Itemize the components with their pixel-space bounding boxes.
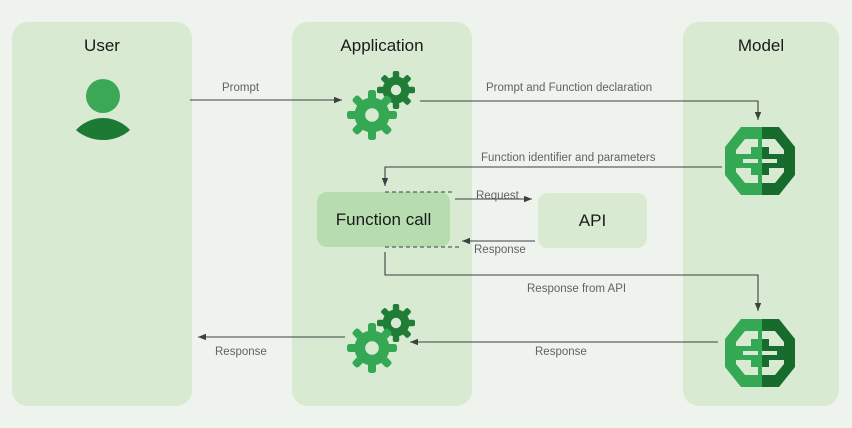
edge-label-prompt-and-function-declaration: Prompt and Function declaration: [486, 82, 652, 94]
panel-title-model: Model: [683, 36, 839, 56]
diagram-canvas: User Application Model Function call API: [0, 0, 852, 428]
edge-label-function-identifier-and-parameters: Function identifier and parameters: [481, 152, 656, 164]
edge-label-prompt: Prompt: [222, 82, 259, 94]
node-function-call[interactable]: Function call: [317, 192, 450, 247]
node-function-call-label: Function call: [336, 210, 431, 230]
edge-label-response-user: Response: [215, 346, 267, 358]
edge-label-request: Request: [476, 190, 519, 202]
edge-label-response-from-api: Response from API: [527, 283, 626, 295]
brain-model-icon: [723, 125, 797, 197]
panel-title-user: User: [12, 36, 192, 56]
node-api-label: API: [579, 211, 606, 231]
brain-model-icon: [723, 317, 797, 389]
edge-label-response-model: Response: [535, 346, 587, 358]
panel-title-application: Application: [292, 36, 472, 56]
gears-icon: [346, 303, 416, 373]
edge-label-response-api: Response: [474, 244, 526, 256]
user-avatar-icon: [72, 78, 134, 140]
node-api[interactable]: API: [538, 193, 647, 248]
gears-icon: [346, 70, 416, 140]
